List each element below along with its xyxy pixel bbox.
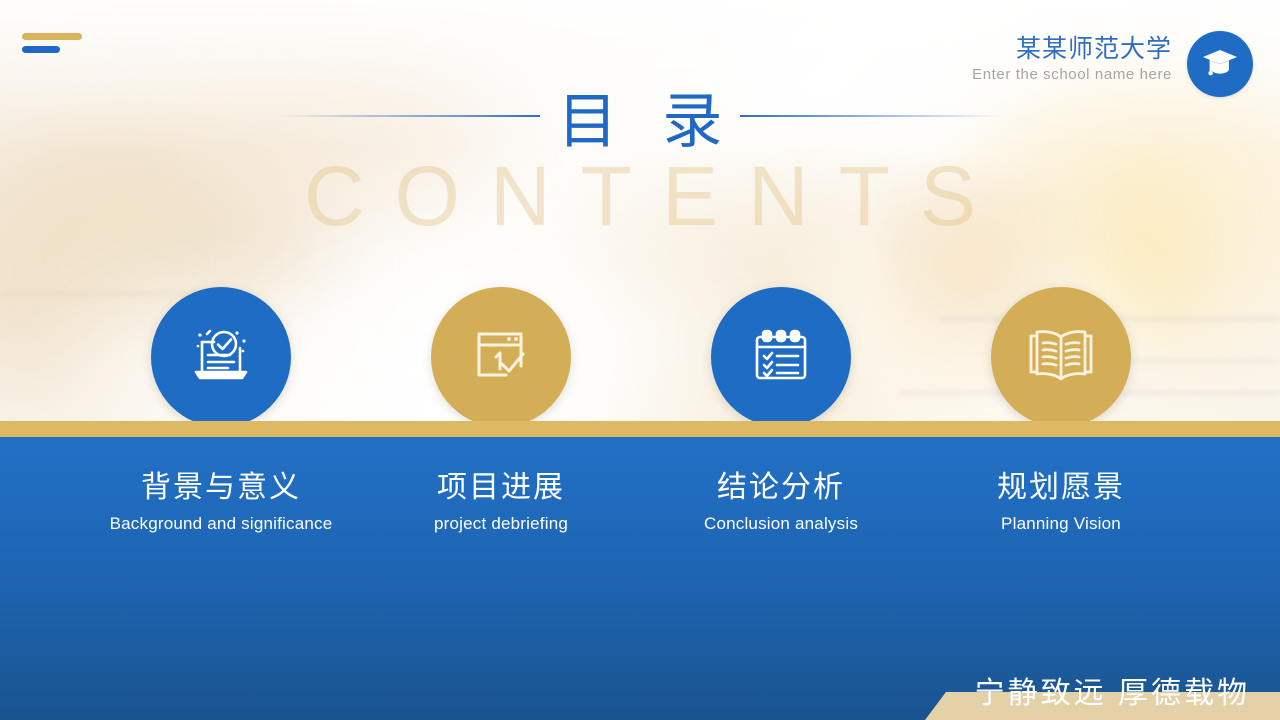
school-name-block: 某某师范大学 Enter the school name here bbox=[972, 36, 1172, 83]
section-title-chinese: 背景与意义 bbox=[91, 470, 351, 506]
corner-decoration bbox=[22, 33, 82, 53]
graduation-cap-icon bbox=[1200, 46, 1240, 83]
section-icon-circle-2[interactable] bbox=[431, 287, 571, 427]
section-labels-row: 背景与意义 Background and significance 项目进展 p… bbox=[0, 470, 1280, 560]
title-rule-left bbox=[278, 115, 540, 117]
section-icon-circle-1[interactable] bbox=[151, 287, 291, 427]
checklist-notepad-icon bbox=[745, 320, 817, 395]
section-label-1[interactable]: 背景与意义 Background and significance bbox=[91, 470, 351, 534]
decoration-bar-blue bbox=[22, 46, 60, 53]
section-title-english: Planning Vision bbox=[931, 514, 1191, 534]
slide-motto: 宁静致远 厚德载物 bbox=[975, 668, 1250, 712]
decoration-bar-gold bbox=[22, 33, 82, 40]
laptop-check-icon bbox=[184, 320, 258, 395]
contents-watermark: CONTENTS bbox=[0, 148, 1280, 245]
presentation-slide: 某某师范大学 Enter the school name here CONTEN… bbox=[0, 0, 1280, 720]
school-name-chinese: 某某师范大学 bbox=[972, 36, 1172, 62]
section-title-chinese: 结论分析 bbox=[651, 470, 911, 506]
section-label-2[interactable]: 项目进展 project debriefing bbox=[371, 470, 631, 534]
section-label-3[interactable]: 结论分析 Conclusion analysis bbox=[651, 470, 911, 534]
slide-title-row: 目 录 bbox=[0, 78, 1280, 154]
section-label-4[interactable]: 规划愿景 Planning Vision bbox=[931, 470, 1191, 534]
section-icon-circle-3[interactable] bbox=[711, 287, 851, 427]
section-title-chinese: 规划愿景 bbox=[931, 470, 1191, 506]
gold-divider-band bbox=[0, 421, 1280, 437]
section-title-chinese: 项目进展 bbox=[371, 470, 631, 506]
section-icon-circle-4[interactable] bbox=[991, 287, 1131, 427]
section-title-english: Conclusion analysis bbox=[651, 514, 911, 534]
section-title-english: Background and significance bbox=[91, 514, 351, 534]
title-rule-right bbox=[740, 115, 1002, 117]
section-icons-row bbox=[0, 287, 1280, 427]
section-title-english: project debriefing bbox=[371, 514, 631, 534]
open-book-icon bbox=[1023, 322, 1099, 393]
window-one-check-icon bbox=[466, 320, 536, 395]
page-title: 目 录 bbox=[540, 92, 741, 152]
